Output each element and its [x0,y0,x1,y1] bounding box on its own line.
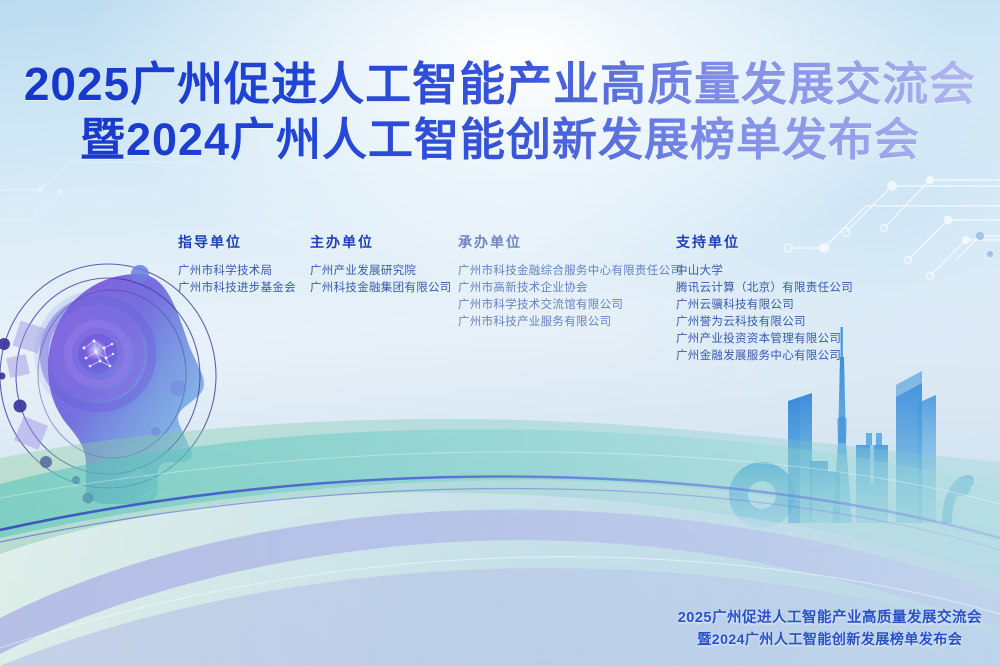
organizer-item: 广州市科技进步基金会 [178,280,296,297]
title-line-2: 暨2024广州人工智能创新发展榜单发布会 [0,112,1000,168]
title-line-1: 2025广州促进人工智能产业高质量发展交流会 [0,56,1000,112]
column-organizer-unit: 承办单位 广州市科技金融综合服务中心有限责任公司 广州市高新技术企业协会 广州市… [458,232,682,331]
page-title: 2025广州促进人工智能产业高质量发展交流会 暨2024广州人工智能创新发展榜单… [0,56,1000,168]
organizer-item: 广州云骥科技有限公司 [676,297,853,314]
organizer-item: 广州科技金融集团有限公司 [310,280,452,297]
organizer-item: 广州产业发展研究院 [310,263,452,280]
organizer-item: 广州市高新技术企业协会 [458,280,682,297]
column-heading: 主办单位 [310,232,452,252]
organizer-item: 广州市科技产业服务有限公司 [458,314,682,331]
column-guidance-unit: 指导单位 广州市科学技术局 广州市科技进步基金会 [178,232,296,297]
footer-line-2: 暨2024广州人工智能创新发展榜单发布会 [678,629,982,650]
footer-line-1: 2025广州促进人工智能产业高质量发展交流会 [678,608,982,629]
conference-backdrop: 2025广州促进人工智能产业高质量发展交流会 暨2024广州人工智能创新发展榜单… [0,0,1000,666]
organizer-item: 腾讯云计算（北京）有限责任公司 [676,280,853,297]
organizer-item: 广州市科学技术交流馆有限公司 [458,297,682,314]
footer-title: 2025广州促进人工智能产业高质量发展交流会 暨2024广州人工智能创新发展榜单… [678,608,982,650]
column-host-unit: 主办单位 广州产业发展研究院 广州科技金融集团有限公司 [310,232,452,297]
organizer-item: 广州市科学技术局 [178,263,296,280]
organizer-item: 中山大学 [676,263,853,280]
column-heading: 指导单位 [178,232,296,252]
column-heading: 承办单位 [458,232,682,252]
organizer-item: 广州市科技金融综合服务中心有限责任公司 [458,263,682,280]
column-heading: 支持单位 [676,232,853,252]
